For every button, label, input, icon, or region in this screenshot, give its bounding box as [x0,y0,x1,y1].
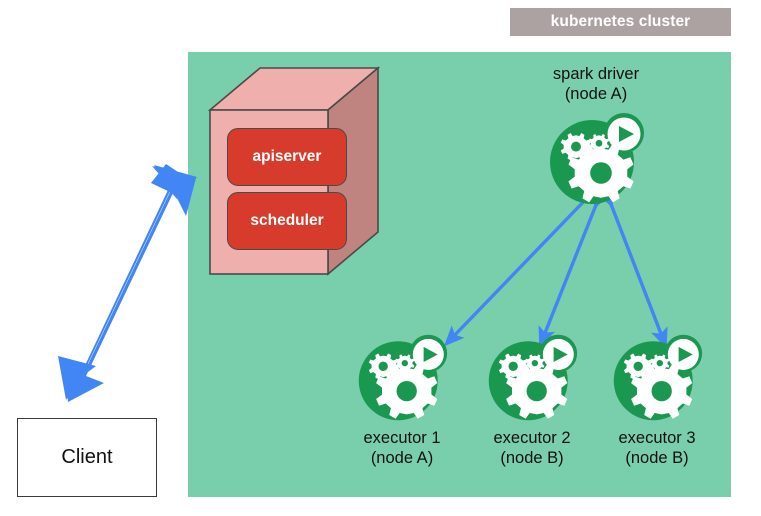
block-arrow-icon [46,164,206,402]
spark-driver-name: spark driver [516,64,676,84]
service-box-scheduler[interactable]: scheduler [227,192,347,250]
executor-2-caption: executor 2 (node B) [465,428,599,468]
kubernetes-control-plane-cube: apiserver scheduler [198,60,388,280]
client-box[interactable]: Client [17,418,157,497]
spark-driver-node-icon-wrap[interactable] [546,108,646,208]
kubernetes-cluster-banner-label: kubernetes cluster [551,13,691,31]
spark-submit-label: spark-submit [98,166,180,307]
service-box-apiserver-label: apiserver [253,148,322,166]
executor-2-name: executor 2 [465,428,599,448]
executor-2-node: (node B) [465,448,599,468]
kubernetes-cluster-banner: kubernetes cluster [510,8,731,36]
executor-1-caption: executor 1 (node A) [335,428,469,468]
executor-3-caption: executor 3 (node B) [590,428,724,468]
executor-3-node: (node B) [590,448,724,468]
service-box-scheduler-label: scheduler [250,212,323,230]
gears-play-icon [355,330,449,424]
spark-driver-node: (node A) [516,84,676,104]
executor-3-node-icon-wrap[interactable] [610,330,704,424]
client-label: Client [61,446,112,469]
spark-driver-caption: spark driver (node A) [516,64,676,104]
gears-play-icon [546,108,646,208]
spark-submit-arrow [46,164,206,402]
gears-play-icon [610,330,704,424]
executor-1-name: executor 1 [335,428,469,448]
executor-1-node: (node A) [335,448,469,468]
gears-play-icon [485,330,579,424]
executor-1-node-icon-wrap[interactable] [355,330,449,424]
executor-3-name: executor 3 [590,428,724,448]
service-box-apiserver[interactable]: apiserver [227,128,347,186]
executor-2-node-icon-wrap[interactable] [485,330,579,424]
